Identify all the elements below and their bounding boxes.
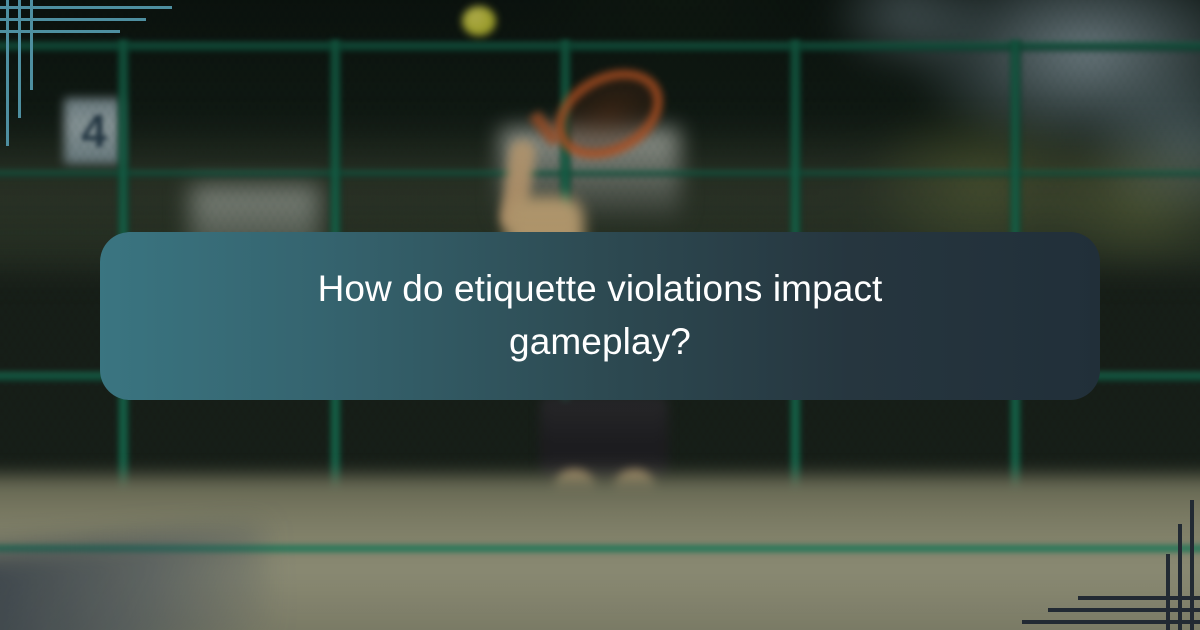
bracket-line-horizontal: [0, 6, 172, 9]
bracket-line-vertical: [18, 0, 21, 118]
bracket-line-vertical: [30, 0, 33, 90]
bracket-line-vertical: [1166, 554, 1170, 630]
corner-bracket-bottom-right: [1010, 470, 1200, 630]
share-card-canvas: 4: [0, 0, 1200, 630]
question-card: How do etiquette violations impact gamep…: [100, 232, 1100, 400]
bracket-line-vertical: [6, 0, 9, 146]
bracket-line-vertical: [1178, 524, 1182, 630]
bracket-line-horizontal: [0, 18, 146, 21]
bracket-line-horizontal: [1022, 620, 1200, 624]
corner-bracket-top-left: [0, 0, 180, 160]
bracket-line-vertical: [1190, 500, 1194, 630]
question-text: How do etiquette violations impact gamep…: [280, 263, 920, 368]
